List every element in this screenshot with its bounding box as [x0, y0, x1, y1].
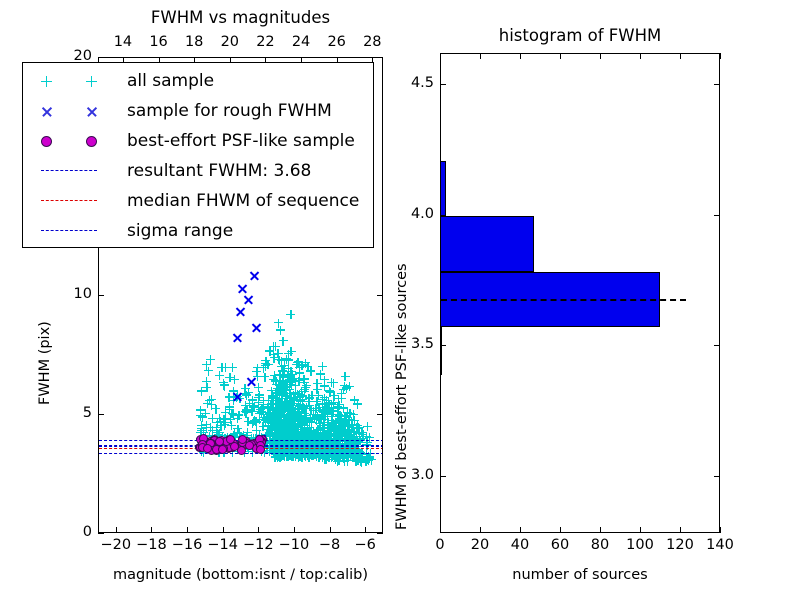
- y-tick: [98, 414, 104, 415]
- histogram-bar[interactable]: [440, 216, 534, 272]
- hist-x-tick-top: [560, 53, 561, 59]
- top-x-ticklabel: 26: [323, 35, 351, 50]
- scatter-point-psf: [230, 442, 239, 451]
- x-ticklabel: −12: [241, 538, 275, 553]
- y-ticklabel: 10: [56, 287, 92, 302]
- scatter-point-all: [352, 457, 361, 466]
- legend-label: all sample: [127, 73, 214, 90]
- scatter-point-rough: [250, 271, 260, 281]
- hist-x-tick-top: [480, 53, 481, 59]
- circle-icon: [86, 136, 97, 147]
- legend-label: best-effort PSF-like sample: [127, 133, 355, 150]
- legend[interactable]: all samplesample for rough FWHMbest-effo…: [22, 62, 374, 248]
- legend-marker: [31, 187, 127, 215]
- hist-x-tick-top: [600, 53, 601, 59]
- scatter-point-all: [259, 364, 268, 373]
- scatter-point-all: [206, 423, 215, 432]
- legend-item[interactable]: median FHWM of sequence: [31, 187, 359, 215]
- scatter-point-all: [298, 417, 307, 426]
- y-ticklabel: 0: [56, 525, 92, 540]
- hist-x-ticklabel: 140: [703, 538, 737, 553]
- scatter-point-all: [216, 417, 225, 426]
- histogram-ylabel: FWHM of best-effort PSF-like sources: [395, 263, 410, 530]
- y-ticklabel: 5: [56, 406, 92, 421]
- hist-y-tick-right: [714, 84, 720, 85]
- scatter-point-all: [358, 431, 367, 440]
- legend-marker: [31, 157, 127, 185]
- scatter-point-all: [308, 391, 317, 400]
- hist-y-tick: [440, 476, 446, 477]
- legend-item[interactable]: sample for rough FWHM: [31, 97, 332, 125]
- hist-y-tick: [440, 84, 446, 85]
- hist-x-tick: [560, 527, 561, 533]
- plus-icon: [41, 76, 52, 87]
- dashed-line-icon: [41, 200, 97, 201]
- scatter-point-all: [215, 371, 224, 380]
- legend-marker: [31, 97, 127, 125]
- scatter-point-rough: [232, 333, 242, 343]
- x-ticklabel: −18: [134, 538, 168, 553]
- dashed-line-icon: [41, 170, 97, 171]
- hist-x-tick: [680, 527, 681, 533]
- cross-icon: [41, 106, 52, 117]
- x-ticklabel: −16: [170, 538, 204, 553]
- hist-y-ticklabel: 4.5: [400, 76, 434, 91]
- x-tick: [330, 527, 331, 533]
- hist-x-ticklabel: 100: [623, 538, 657, 553]
- scatter-point-all: [275, 389, 284, 398]
- scatter-point-all: [315, 403, 324, 412]
- hist-x-tick-top: [640, 53, 641, 59]
- hist-x-tick: [600, 527, 601, 533]
- y-tick-right: [377, 533, 383, 534]
- x-tick: [365, 527, 366, 533]
- y-tick: [98, 533, 104, 534]
- scatter-point-all: [255, 391, 264, 400]
- hist-x-tick-top: [720, 53, 721, 59]
- legend-marker: [31, 217, 127, 245]
- x-ticklabel: −6: [348, 538, 382, 553]
- scatter-point-psf: [245, 441, 254, 450]
- hist-x-ticklabel: 80: [583, 538, 617, 553]
- scatter-point-all: [282, 355, 291, 364]
- legend-item[interactable]: sigma range: [31, 217, 233, 245]
- legend-label: sample for rough FWHM: [127, 103, 332, 120]
- x-tick: [223, 527, 224, 533]
- scatter-point-all: [316, 370, 325, 379]
- scatter-point-rough: [236, 307, 246, 317]
- top-x-ticklabel: 18: [180, 35, 208, 50]
- x-ticklabel: −10: [277, 538, 311, 553]
- scatter-point-all: [226, 373, 235, 382]
- x-tick: [116, 527, 117, 533]
- scatter-point-all: [204, 367, 213, 376]
- histogram-title: histogram of FWHM: [440, 28, 720, 45]
- scatter-point-all: [241, 401, 250, 410]
- scatter-point-all: [260, 373, 269, 382]
- top-x-ticklabel: 20: [216, 35, 244, 50]
- hist-y-tick: [440, 215, 446, 216]
- hist-y-tick: [440, 345, 446, 346]
- legend-marker: [31, 67, 127, 95]
- top-x-ticklabel: 28: [358, 35, 386, 50]
- scatter-point-rough: [237, 284, 247, 294]
- scatter-point-all: [333, 404, 342, 413]
- x-ticklabel: −20: [99, 538, 133, 553]
- hist-x-ticklabel: 0: [423, 538, 457, 553]
- scatter-point-psf: [256, 445, 265, 454]
- scatter-point-all: [341, 372, 350, 381]
- top-x-ticklabel: 24: [287, 35, 315, 50]
- scatter-point-all: [197, 387, 206, 396]
- x-ticklabel: −8: [313, 538, 347, 553]
- scatter-point-all: [249, 417, 258, 426]
- histogram-plot-area[interactable]: [440, 53, 720, 533]
- hist-x-tick: [480, 527, 481, 533]
- x-tick: [151, 527, 152, 533]
- scatter-point-all: [270, 371, 279, 380]
- scatter-point-rough: [246, 377, 256, 387]
- x-tick: [187, 527, 188, 533]
- dashdot-line-icon: [41, 230, 97, 231]
- hist-y-ticklabel: 4.0: [400, 207, 434, 222]
- scatter-ylabel: FWHM (pix): [38, 321, 53, 405]
- scatter-point-all: [310, 414, 319, 423]
- scatter-point-all: [265, 347, 274, 356]
- plus-icon: [86, 76, 97, 87]
- scatter-point-rough: [233, 392, 243, 402]
- hist-y-tick-right: [714, 476, 720, 477]
- scatter-xlabel: magnitude (bottom:isnt / top:calib): [98, 568, 383, 583]
- scatter-point-all: [277, 420, 286, 429]
- y-tick-right: [377, 57, 383, 58]
- legend-label: sigma range: [127, 223, 233, 240]
- hist-x-tick: [640, 527, 641, 533]
- legend-item[interactable]: best-effort PSF-like sample: [31, 127, 355, 155]
- hist-x-ticklabel: 60: [543, 538, 577, 553]
- y-tick-right: [377, 414, 383, 415]
- top-x-ticklabel: 14: [109, 35, 137, 50]
- circle-icon: [41, 136, 52, 147]
- scatter-point-all: [294, 358, 303, 367]
- scatter-point-all: [336, 415, 345, 424]
- hist-x-ticklabel: 120: [663, 538, 697, 553]
- y-tick: [98, 57, 104, 58]
- scatter-point-all: [280, 401, 289, 410]
- scatter-point-psf: [203, 444, 212, 453]
- hist-x-tick-top: [680, 53, 681, 59]
- scatter-point-all: [333, 430, 342, 439]
- y-tick: [98, 295, 104, 296]
- scatter-point-all: [250, 402, 259, 411]
- scatter-point-all: [324, 418, 333, 427]
- histogram-xlabel: number of sources: [440, 568, 720, 583]
- scatter-point-all: [303, 362, 312, 371]
- x-ticklabel: −14: [206, 538, 240, 553]
- scatter-point-all: [286, 310, 295, 319]
- x-tick: [258, 527, 259, 533]
- scatter-point-all: [225, 406, 234, 415]
- scatter-title: FWHM vs magnitudes: [98, 10, 383, 27]
- x-tick: [294, 527, 295, 533]
- hist-x-tick: [520, 527, 521, 533]
- scatter-point-all: [339, 385, 348, 394]
- scatter-point-all: [197, 421, 206, 430]
- legend-label: median FHWM of sequence: [127, 193, 359, 210]
- cross-icon: [86, 106, 97, 117]
- scatter-point-all: [366, 449, 375, 458]
- hist-x-tick-top: [520, 53, 521, 59]
- scatter-point-all: [298, 396, 307, 405]
- hist-y-tick-right: [714, 215, 720, 216]
- scatter-point-all: [298, 430, 307, 439]
- histogram-resultant-fwhm-line: [441, 299, 686, 301]
- scatter-point-all: [242, 391, 251, 400]
- scatter-point-rough: [252, 323, 262, 333]
- y-tick-right: [377, 295, 383, 296]
- hist-y-tick-right: [714, 345, 720, 346]
- hist-x-ticklabel: 20: [463, 538, 497, 553]
- hist-x-ticklabel: 40: [503, 538, 537, 553]
- legend-marker: [31, 127, 127, 155]
- top-x-ticklabel: 16: [145, 35, 173, 50]
- histogram-bar[interactable]: [440, 161, 446, 216]
- scatter-point-all: [202, 377, 211, 386]
- histogram-bar[interactable]: [440, 327, 442, 375]
- legend-label: resultant FWHM: 3.68: [127, 163, 311, 180]
- scatter-point-all: [207, 401, 216, 410]
- scatter-point-all: [276, 326, 285, 335]
- legend-item[interactable]: resultant FWHM: 3.68: [31, 157, 311, 185]
- scatter-point-all: [350, 396, 359, 405]
- scatter-point-all: [268, 406, 277, 415]
- scatter-point-rough: [244, 295, 254, 305]
- hist-x-tick-top: [440, 53, 441, 59]
- top-x-ticklabel: 22: [251, 35, 279, 50]
- figure-canvas: FWHM vs magnitudes 1416182022242628 −20−…: [0, 0, 800, 600]
- hist-x-tick: [440, 527, 441, 533]
- scatter-point-all: [196, 412, 205, 421]
- hist-x-tick: [720, 527, 721, 533]
- legend-item[interactable]: all sample: [31, 67, 214, 95]
